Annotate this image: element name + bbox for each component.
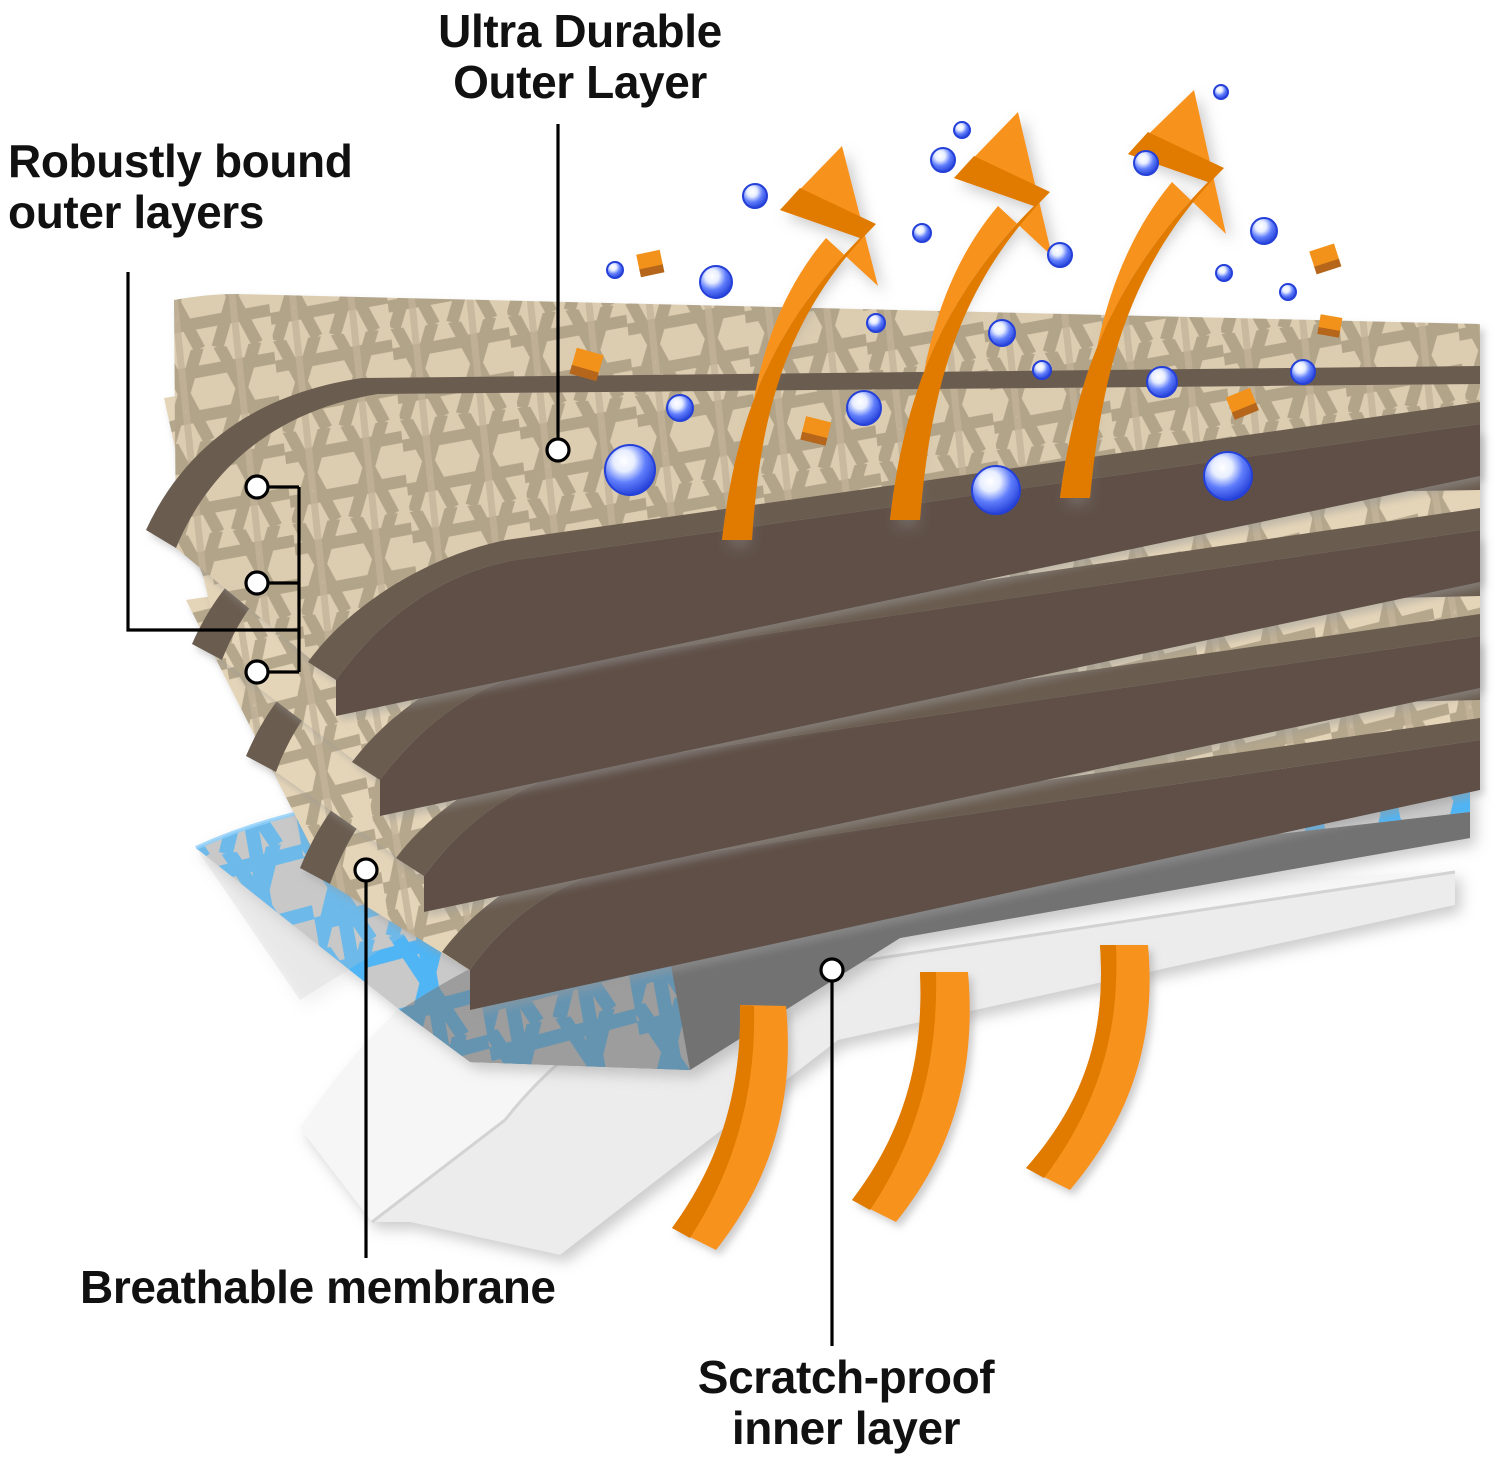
abrasion-particle [1317, 314, 1342, 338]
moisture-droplet [607, 262, 623, 278]
moisture-droplet [1216, 265, 1232, 281]
label-breathable-membrane: Breathable membrane [80, 1262, 700, 1313]
moisture-droplet [972, 466, 1020, 514]
moisture-droplet [667, 395, 693, 421]
label-robustly-bound-outer-layers: Robustly bound outer layers [8, 136, 438, 237]
moisture-droplet [1251, 218, 1277, 244]
moisture-droplet [1147, 367, 1177, 397]
moisture-droplet [931, 148, 955, 172]
moisture-droplet [1204, 452, 1252, 500]
moisture-droplet [989, 320, 1015, 346]
moisture-droplet [743, 184, 767, 208]
moisture-droplet [1291, 360, 1315, 384]
moisture-droplet [1033, 361, 1051, 379]
abrasion-particle [636, 250, 664, 277]
moisture-droplet [1134, 151, 1158, 175]
abrasion-particle [1309, 244, 1341, 275]
moisture-droplet [954, 122, 970, 138]
moisture-droplet [1214, 85, 1228, 99]
moisture-droplet [847, 391, 881, 425]
moisture-droplet [867, 314, 885, 332]
moisture-droplet [913, 224, 931, 242]
moisture-droplet [605, 445, 655, 495]
moisture-droplet [1048, 243, 1072, 267]
moisture-droplet [1280, 284, 1296, 300]
diagram-canvas: Ultra Durable Outer Layer Robustly bound… [0, 0, 1499, 1463]
moisture-droplet [700, 266, 732, 298]
label-ultra-durable-outer-layer: Ultra Durable Outer Layer [400, 6, 760, 107]
label-scratch-proof-inner-layer: Scratch-proof inner layer [646, 1352, 1046, 1453]
